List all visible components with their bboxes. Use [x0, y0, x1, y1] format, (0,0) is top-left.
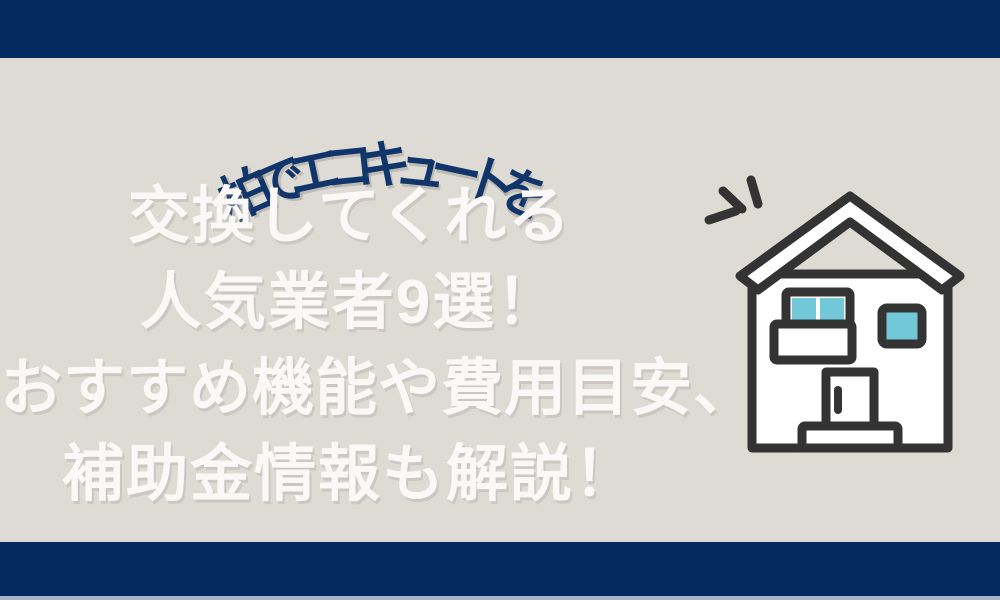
bottom-navy-bar: [0, 542, 1000, 596]
banner-canvas: 柏でエコキュートを 交換してくれる 人気業者9選！ おすすめ機能や費用目安、 補…: [0, 0, 1000, 600]
headline-line-2: 交換してくれる: [0, 186, 700, 248]
sparkle-icon: [709, 180, 758, 220]
headline-line-3: 人気業者9選！: [0, 272, 700, 334]
headline-line-4: おすすめ機能や費用目安、: [0, 358, 760, 420]
top-navy-bar: [0, 0, 1000, 58]
house-illustration: [690, 160, 990, 460]
headline-arc-characters: 柏でエコキュートを: [0, 76, 700, 188]
headline-line-5: 補助金情報も解説！: [0, 444, 700, 506]
headline-arc-line: 柏でエコキュートを: [0, 76, 700, 188]
bottom-edge-strip: [0, 596, 1000, 600]
balcony-rail: [774, 324, 852, 360]
side-window: [882, 308, 922, 344]
entrance-step: [802, 426, 898, 448]
headline-block: 柏でエコキュートを 交換してくれる 人気業者9選！ おすすめ機能や費用目安、 補…: [0, 58, 700, 542]
